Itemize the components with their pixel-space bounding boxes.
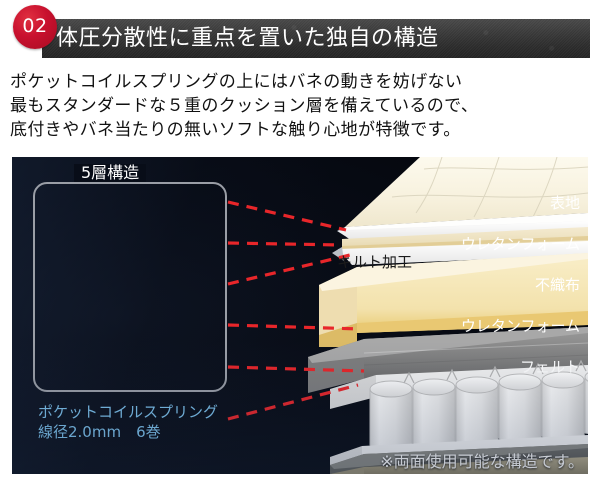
- page-title: 体圧分散性に重点を置いた独自の構造: [56, 27, 439, 51]
- leader-line-5: [228, 367, 364, 371]
- spring-caption: ポケットコイルスプリング 線径2.0mm 6巻: [38, 402, 218, 442]
- layer-label-3: 不織布: [535, 276, 580, 294]
- layer-box-title: 5層構造: [74, 164, 146, 182]
- quilt-label: キルト加工: [337, 253, 412, 271]
- lead-line-1: ポケットコイルスプリングの上にはバネの動きを妨げない: [10, 70, 590, 94]
- bottom-note: ※両面使用可能な構造です。: [380, 452, 584, 472]
- lead-line-3: 底付きやバネ当たりの無いソフトな触り心地が特徴です。: [10, 118, 590, 142]
- section-header: 体圧分散性に重点を置いた独自の構造 02: [0, 0, 600, 62]
- lead-paragraph: ポケットコイルスプリングの上にはバネの動きを妨げない 最もスタンダードな５重のク…: [10, 70, 590, 142]
- layer-label-5: フェルト: [520, 358, 580, 376]
- step-badge: 02: [13, 5, 57, 49]
- lead-line-2: 最もスタンダードな５重のクッション層を備えているので、: [10, 94, 590, 118]
- spring-caption-line-1: ポケットコイルスプリング: [38, 402, 218, 422]
- layer-label-2: ウレタンフォーム: [461, 235, 580, 253]
- layer-label-4: ウレタンフォーム: [461, 317, 580, 335]
- layer-label-1: 表地: [550, 194, 580, 212]
- step-badge-number: 02: [13, 15, 57, 37]
- pocket-coil-springs: [370, 361, 588, 451]
- leader-line-spring: [228, 385, 358, 419]
- layer-structure-box: [33, 182, 227, 392]
- spring-caption-line-2: 線径2.0mm 6巻: [38, 422, 218, 442]
- diagram-panel: 5層構造 表地 ウレタンフォーム 不織布 ウレタンフォーム フェルト ポケットコ…: [12, 157, 588, 474]
